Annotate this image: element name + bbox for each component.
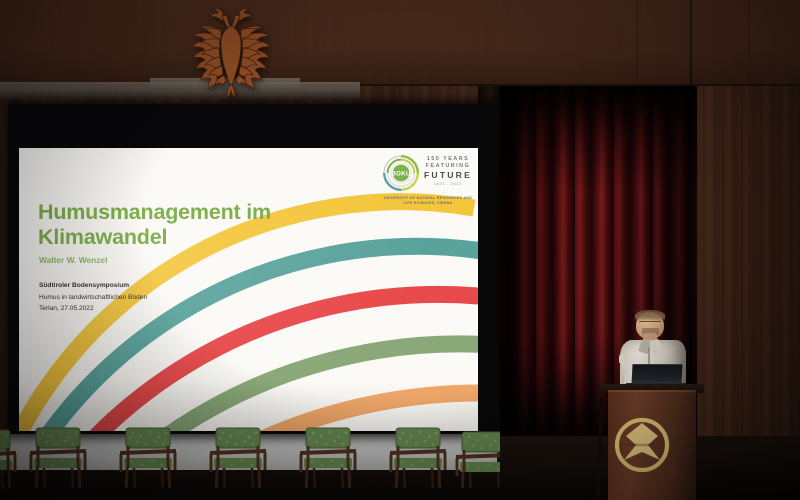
slide-event-place-date: Terlan, 27.05.2022 bbox=[39, 303, 147, 315]
slide-author: Walter W. Wenzel bbox=[39, 255, 107, 265]
slide-event-name: Südtiroler Bodensymposium bbox=[39, 280, 147, 292]
conference-hall-photo: BOKU 150 YEARS FEATURING FUTURE 1872 - 2… bbox=[0, 0, 800, 500]
boku-seal-icon: BOKU bbox=[383, 155, 419, 191]
chair-item bbox=[210, 428, 266, 496]
chair-item bbox=[120, 428, 176, 496]
slide-meta-block: Südtiroler Bodensymposium Humus in landw… bbox=[39, 280, 147, 315]
slide-title-line-2: Klimawandel bbox=[38, 225, 271, 250]
speaker-glasses bbox=[639, 321, 661, 326]
upper-wall-panel bbox=[0, 0, 800, 86]
slide-event-subtitle: Humus in landwirtschaftlichen Böden bbox=[39, 292, 147, 304]
logo-line-future: FUTURE bbox=[421, 170, 475, 180]
boku-university-subtitle: UNIVERSITY OF NATURAL RESOURCES AND LIFE… bbox=[381, 196, 475, 207]
slide-title-line-1: Humusmanagement im bbox=[38, 200, 271, 225]
double-headed-eagle-icon bbox=[176, 0, 286, 101]
laptop-screen bbox=[631, 364, 682, 385]
rainbow-band-red bbox=[19, 294, 478, 431]
chair-item bbox=[390, 428, 446, 496]
chair-item bbox=[300, 428, 356, 496]
chair-item bbox=[30, 428, 86, 496]
microphone-cable bbox=[596, 396, 603, 500]
microphone-head bbox=[619, 354, 627, 363]
svg-text:BOKU: BOKU bbox=[391, 171, 411, 178]
presentation-slide: BOKU 150 YEARS FEATURING FUTURE 1872 - 2… bbox=[19, 148, 478, 431]
wall-panel-seam bbox=[748, 0, 750, 500]
chair-item bbox=[0, 430, 16, 498]
slide-title: Humusmanagement im Klimawandel bbox=[38, 200, 271, 251]
boku-logo: BOKU 150 YEARS FEATURING FUTURE 1872 - 2… bbox=[381, 154, 475, 216]
logo-line-featuring: FEATURING bbox=[421, 163, 475, 169]
chair-row bbox=[0, 424, 500, 500]
boku-anniversary-text: 150 YEARS FEATURING FUTURE 1872 - 2022 bbox=[421, 156, 475, 186]
speaker-hair bbox=[635, 310, 665, 321]
logo-line-years-span: 1872 - 2022 bbox=[421, 182, 475, 186]
logo-line-150-years: 150 YEARS bbox=[421, 156, 475, 162]
speaker-at-lectern bbox=[596, 312, 716, 500]
tyrol-eagle-roundel-icon bbox=[614, 416, 670, 474]
